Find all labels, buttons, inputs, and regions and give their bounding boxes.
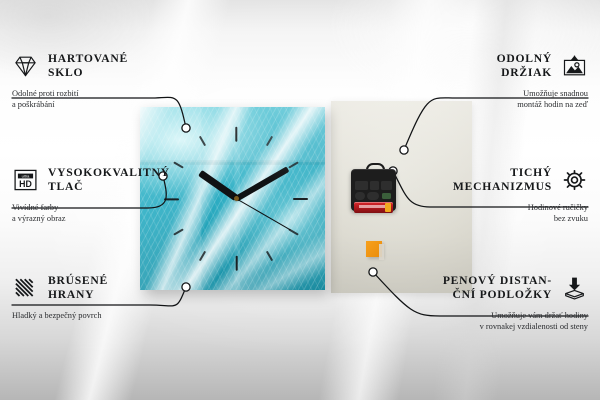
feature-description: Odolné proti rozbití a poškrábání xyxy=(12,88,227,111)
clock-hour-mark xyxy=(235,256,237,271)
feature-title: HARTOVANÉ SKLO xyxy=(48,52,128,81)
feature-title: TICHÝ MECHANIZMUS xyxy=(453,166,552,195)
foam-spacer-pad xyxy=(366,241,382,257)
svg-text:HD: HD xyxy=(19,180,32,190)
brushed-edges-icon xyxy=(12,276,39,300)
gear-icon xyxy=(561,168,588,192)
feature-silent-mechanism: TICHÝ MECHANIZMUS Hodinové ručičky bez z… xyxy=(373,166,588,224)
feature-description: Hladký a bezpečný povrch xyxy=(12,310,227,321)
diamond-icon xyxy=(12,54,39,78)
feature-title: BRÚSENÉ HRANY xyxy=(48,274,108,303)
feature-tempered-glass: HARTOVANÉ SKLO Odolné proti rozbití a po… xyxy=(12,52,227,110)
feature-durable-hanger: ODOLNÝ DRŽIAK Umožňuje snadnou montáž ho… xyxy=(373,52,588,110)
mechanism-body xyxy=(351,169,396,211)
feature-foam-spacers: PENOVÝ DISTAN- ČNÍ PODLOŽKY Umožňuje vám… xyxy=(373,274,588,332)
feature-title: VYSOKOKVALITNÝ TLAČ xyxy=(48,166,170,195)
wall-hanger-icon xyxy=(561,54,588,78)
clock-hour-mark xyxy=(235,127,237,142)
feature-title: PENOVÝ DISTAN- ČNÍ PODLOŽKY xyxy=(443,274,552,303)
feature-description: Hodinové ručičky bez zvuku xyxy=(373,202,588,225)
feature-title: ODOLNÝ DRŽIAK xyxy=(497,52,552,81)
feature-description: Umožňuje vám držať hodiny v rovnakej vzd… xyxy=(373,310,588,333)
aa-battery xyxy=(354,202,393,213)
ultra-hd-icon: ultra HD xyxy=(12,168,39,192)
clock-mechanism xyxy=(351,163,396,211)
feature-description: Vivídné farby a výrazný obraz xyxy=(12,202,227,225)
feature-high-quality-print: ultra HD VYSOKOKVALITNÝ TLAČ Vivídné far… xyxy=(12,166,227,224)
clock-hub xyxy=(234,196,239,201)
feature-polished-edges: BRÚSENÉ HRANY Hladký a bezpečný povrch xyxy=(12,274,227,321)
svg-text:ultra: ultra xyxy=(22,174,31,179)
feature-description: Umožňuje snadnou montáž hodin na zeď xyxy=(373,88,588,111)
infographic-canvas: HARTOVANÉ SKLO Odolné proti rozbití a po… xyxy=(0,0,600,400)
foam-spacer-icon xyxy=(561,276,588,300)
